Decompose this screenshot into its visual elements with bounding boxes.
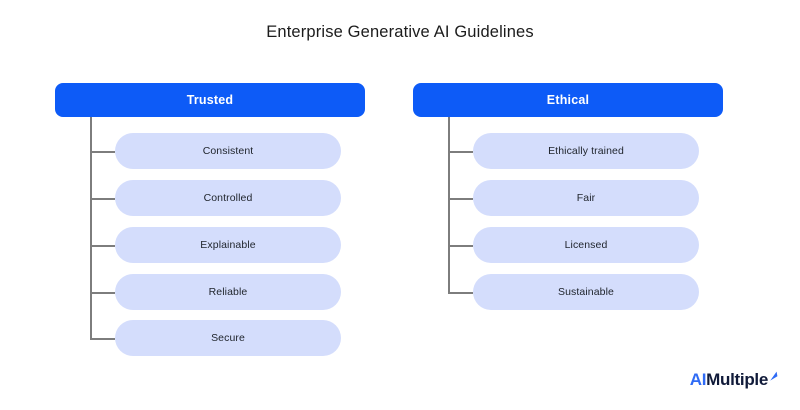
connector-stub: [90, 292, 115, 294]
branch-header-label: Ethical: [547, 93, 589, 107]
list-item[interactable]: Controlled: [115, 180, 341, 216]
list-item[interactable]: Explainable: [115, 227, 341, 263]
branch-header-ethical[interactable]: Ethical: [413, 83, 723, 117]
list-item[interactable]: Consistent: [115, 133, 341, 169]
connector-trunk: [448, 117, 450, 292]
list-item[interactable]: Secure: [115, 320, 341, 356]
list-item[interactable]: Reliable: [115, 274, 341, 310]
brand-logo-prefix: AI: [690, 371, 706, 388]
brand-logo-suffix: Multiple: [706, 371, 768, 388]
list-item-label: Ethically trained: [538, 145, 634, 158]
branch-trusted: Trusted Consistent Controlled Explainabl…: [55, 83, 365, 117]
list-item-label: Secure: [201, 332, 255, 345]
list-item[interactable]: Fair: [473, 180, 699, 216]
list-item-label: Explainable: [190, 239, 265, 252]
page-title: Enterprise Generative AI Guidelines: [0, 23, 800, 42]
list-item-label: Reliable: [199, 286, 258, 299]
connector-stub: [90, 151, 115, 153]
list-item-label: Fair: [567, 192, 605, 205]
list-item-label: Consistent: [193, 145, 264, 158]
list-item-label: Controlled: [194, 192, 263, 205]
branch-ethical: Ethical Ethically trained Fair Licensed …: [413, 83, 723, 117]
brand-logo: AIMultiple: [690, 371, 778, 388]
branch-header-trusted[interactable]: Trusted: [55, 83, 365, 117]
connector-stub: [448, 151, 473, 153]
brand-logo-tick-icon: [769, 368, 778, 385]
list-item-label: Sustainable: [548, 286, 624, 299]
connector-stub: [90, 338, 115, 340]
connector-stub: [448, 198, 473, 200]
connector-stub: [90, 245, 115, 247]
connector-stub: [90, 198, 115, 200]
list-item[interactable]: Ethically trained: [473, 133, 699, 169]
list-item[interactable]: Licensed: [473, 227, 699, 263]
connector-stub: [448, 245, 473, 247]
connector-stub: [448, 292, 473, 294]
list-item-label: Licensed: [555, 239, 618, 252]
list-item[interactable]: Sustainable: [473, 274, 699, 310]
branch-header-label: Trusted: [187, 93, 234, 107]
